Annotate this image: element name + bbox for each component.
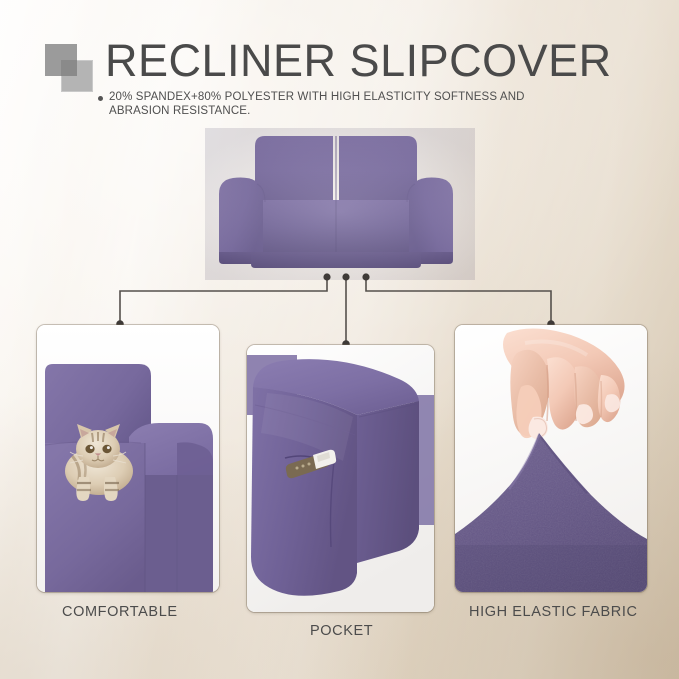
spec-bullet-row: 20% SPANDEX+80% POLYESTER WITH HIGH ELAS… — [98, 90, 558, 119]
feature-panel-comfortable[interactable] — [37, 325, 219, 592]
spec-bullet-text: 20% SPANDEX+80% POLYESTER WITH HIGH ELAS… — [109, 90, 558, 119]
infographic-canvas: RECLINER SLIPCOVER 20% SPANDEX+80% POLYE… — [0, 0, 679, 679]
cat-on-purple-armchair-photo — [37, 325, 219, 592]
caption-pocket: POCKET — [310, 623, 373, 639]
bullet-dot-icon — [98, 96, 103, 101]
side-pocket-detail-photo — [247, 345, 434, 612]
logo-square-overlap — [61, 60, 77, 76]
caption-high-elastic-fabric: HIGH ELASTIC FABRIC — [469, 604, 638, 620]
caption-comfortable: COMFORTABLE — [62, 604, 178, 620]
hero-sofa-image — [205, 128, 475, 280]
feature-panel-pocket[interactable] — [247, 345, 434, 612]
page-title: RECLINER SLIPCOVER — [105, 38, 612, 83]
hand-stretching-fabric-photo — [455, 325, 647, 592]
overlapping-squares-logo-icon — [45, 44, 93, 92]
sofa-illustration — [205, 128, 475, 280]
feature-panel-high-elastic-fabric[interactable] — [455, 325, 647, 592]
